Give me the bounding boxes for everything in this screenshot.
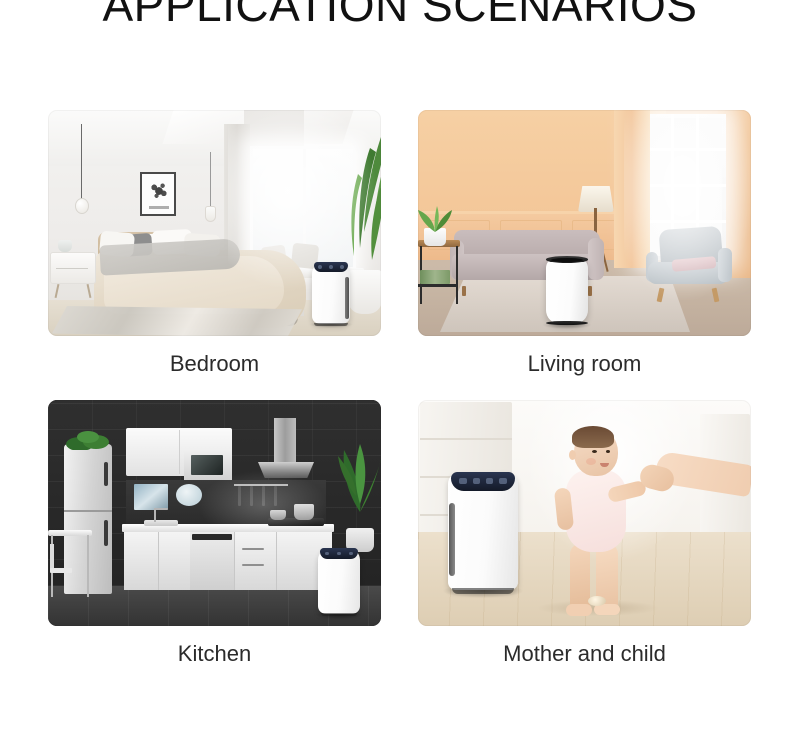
fridge-handle-bottom: [104, 520, 108, 546]
baby-leg-left: [570, 544, 590, 610]
baby-eye-right: [606, 450, 610, 453]
purifier-button: [318, 265, 322, 268]
kitchen-chair: [50, 544, 72, 600]
pendant-cord-right: [210, 152, 211, 208]
purifier-button: [337, 552, 342, 555]
cabinet-divider-4: [276, 532, 277, 590]
pendant-cord-left: [81, 124, 82, 200]
kitchen-faucet-stem: [154, 508, 156, 522]
air-purifier-mother-and-child: [448, 472, 518, 590]
page-title: APPLICATION SCENARIOS: [0, 0, 800, 32]
living-room-plant: [418, 206, 452, 246]
baby-hair: [572, 426, 614, 448]
purifier-control-buttons: [318, 265, 344, 268]
caption-bedroom: Bedroom: [48, 336, 381, 400]
drawer-handle-4: [242, 564, 264, 566]
kitchen-table-leg-right: [87, 535, 89, 597]
sofa-leg-left: [462, 286, 466, 296]
kitchen-chair-seat: [50, 568, 72, 573]
kitchen-scene: [48, 400, 381, 626]
side-table-books: [420, 270, 450, 284]
kitchen-faucet-spout: [154, 508, 168, 510]
floor-toy: [588, 596, 606, 606]
living-room-scene: [418, 110, 751, 336]
purifier-control-buttons: [325, 552, 354, 555]
scenario-card-mother-and-child[interactable]: Mother and child: [418, 400, 751, 690]
kitchen-chair-back: [50, 544, 54, 570]
caption-kitchen: Kitchen: [48, 626, 381, 690]
caption-mother-and-child: Mother and child: [418, 626, 751, 690]
kitchen-plant-leaves: [336, 434, 381, 512]
air-purifier-living-room: [546, 258, 588, 324]
baby: [552, 428, 638, 618]
purifier-base: [314, 323, 347, 326]
nightstand-leg-left: [55, 284, 60, 298]
living-room-window-glow: [624, 110, 751, 300]
fridge-door-split: [64, 510, 112, 512]
baby-foot-left: [566, 604, 592, 616]
plant-leaves: [418, 206, 452, 232]
bedroom-rug: [52, 306, 302, 336]
purifier-body: [546, 258, 588, 324]
drawer-handle-3: [242, 548, 264, 550]
cabinet-divider-1: [158, 532, 159, 590]
kitchen-sink: [144, 520, 178, 526]
pendant-bulb-right: [205, 206, 216, 222]
kitchen-image[interactable]: [48, 400, 381, 626]
fridge-handle-top: [104, 462, 108, 486]
baby-cheek: [586, 458, 596, 465]
bedroom-wall-art: [140, 172, 176, 216]
baby-ear: [569, 450, 576, 460]
purifier-button: [349, 552, 354, 555]
scenario-card-living-room[interactable]: Living room: [418, 110, 751, 400]
backsplash-mirror-panel: [134, 484, 168, 510]
scenario-card-kitchen[interactable]: Kitchen: [48, 400, 381, 690]
nightstand-leg-right: [87, 284, 92, 298]
cabinet-divider-3: [234, 532, 235, 590]
purifier-button: [329, 265, 333, 268]
purifier-button: [325, 552, 330, 555]
baby-eye-left: [592, 450, 597, 453]
wall-art-caption: [149, 206, 169, 209]
sofa-arm-right: [588, 238, 604, 280]
purifier-control-buttons: [459, 478, 507, 484]
mother-and-child-scene: [418, 400, 751, 626]
purifier-button: [459, 478, 467, 484]
kitchen-dishwasher: [190, 532, 234, 590]
cabinet-line-1: [420, 438, 512, 440]
air-purifier-bedroom: [312, 262, 350, 324]
pendant-bulb-left: [75, 198, 89, 214]
caption-living-room: Living room: [418, 336, 751, 400]
nightstand-vase: [58, 240, 72, 252]
bedroom-window-glow: [228, 110, 378, 290]
bedroom-scene: [48, 110, 381, 336]
scenario-grid: Bedroom: [48, 110, 752, 690]
mother-and-child-image[interactable]: [418, 400, 751, 626]
purifier-side-vent: [449, 503, 455, 576]
living-room-side-table: [418, 240, 460, 310]
purifier-side-vent: [345, 277, 349, 319]
bedroom-image[interactable]: [48, 110, 381, 336]
baby-onesie: [566, 470, 626, 552]
purifier-base: [321, 613, 358, 616]
wall-art-graphic: [147, 179, 171, 203]
kitchen-table-top: [48, 530, 92, 536]
purifier-button: [486, 478, 494, 484]
purifier-base: [452, 588, 514, 594]
purifier-button: [473, 478, 481, 484]
sofa-leg-right: [588, 286, 592, 296]
living-room-image[interactable]: [418, 110, 751, 336]
kitchen-light-glow: [198, 470, 328, 540]
upper-cabinet-split: [179, 430, 180, 474]
nightstand-drawer-line: [56, 268, 88, 269]
side-table-shelf: [418, 284, 458, 287]
adult-arm: [640, 458, 751, 498]
fridge-top-plant: [66, 428, 114, 450]
air-purifier-kitchen: [318, 548, 360, 614]
side-table-leg-right: [456, 246, 458, 304]
range-hood-pipe: [274, 418, 296, 464]
application-scenarios-page: APPLICATION SCENARIOS: [0, 0, 800, 756]
scenario-card-bedroom[interactable]: Bedroom: [48, 110, 381, 400]
purifier-button: [340, 265, 344, 268]
purifier-button: [499, 478, 507, 484]
